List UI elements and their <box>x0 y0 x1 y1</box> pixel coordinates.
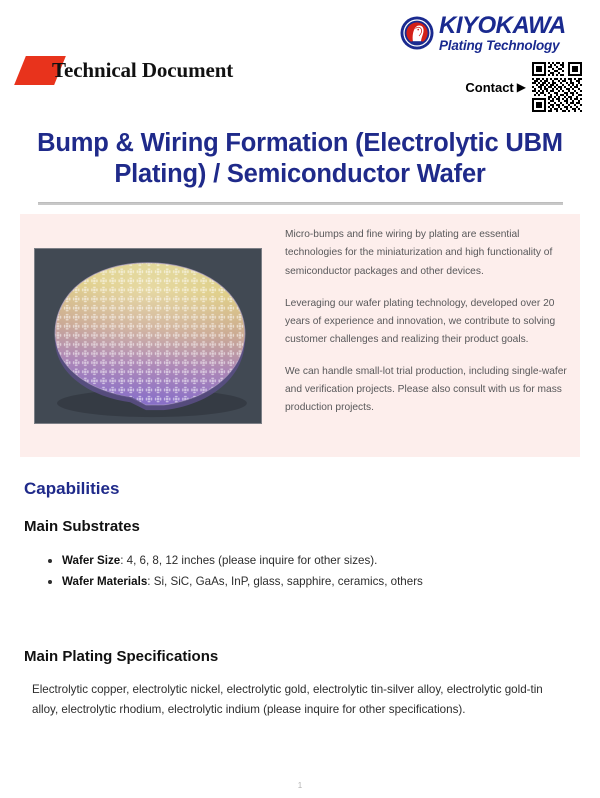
content-body: Capabilities Main Substrates Wafer Size:… <box>0 479 600 719</box>
page-title: Bump & Wiring Formation (Electrolytic UB… <box>24 128 576 190</box>
document-page: KIYOKAWA Plating Technology Technical Do… <box>0 0 600 798</box>
page-header: KIYOKAWA Plating Technology Technical Do… <box>0 0 600 120</box>
title-block: Bump & Wiring Formation (Electrolytic UB… <box>0 128 600 205</box>
list-item: Wafer Size: 4, 6, 8, 12 inches (please i… <box>48 551 576 571</box>
brand-text: KIYOKAWA Plating Technology <box>439 14 566 53</box>
contact-link[interactable]: Contact ▶ <box>465 62 582 112</box>
document-type-tag: Technical Document <box>20 56 233 85</box>
substrates-list: Wafer Size: 4, 6, 8, 12 inches (please i… <box>24 551 576 592</box>
contact-label: Contact <box>465 80 513 95</box>
intro-paragraph-2: Leveraging our wafer plating technology,… <box>285 295 568 349</box>
intro-text: Micro-bumps and fine wiring by plating a… <box>285 226 568 417</box>
bullet-label: Wafer Materials <box>62 575 147 588</box>
triangle-right-icon: ▶ <box>517 81 526 93</box>
company-logo: KIYOKAWA Plating Technology <box>400 14 566 53</box>
plating-specifications-body: Electrolytic copper, electrolytic nickel… <box>24 680 544 720</box>
brand-name: KIYOKAWA <box>439 14 566 38</box>
brand-tagline: Plating Technology <box>439 39 566 53</box>
plating-specifications-heading: Main Plating Specifications <box>24 648 576 665</box>
bullet-value: : Si, SiC, GaAs, InP, glass, sapphire, c… <box>147 575 423 588</box>
semiconductor-wafer-photo <box>34 248 262 424</box>
bullet-value: : 4, 6, 8, 12 inches (please inquire for… <box>120 554 377 567</box>
page-number: 1 <box>0 781 600 790</box>
intro-panel: Micro-bumps and fine wiring by plating a… <box>20 214 580 457</box>
intro-paragraph-1: Micro-bumps and fine wiring by plating a… <box>285 226 568 280</box>
company-seal-icon <box>400 16 434 50</box>
qr-code-icon[interactable] <box>532 62 582 112</box>
main-substrates-heading: Main Substrates <box>24 518 576 535</box>
list-item: Wafer Materials: Si, SiC, GaAs, InP, gla… <box>48 572 576 592</box>
title-divider <box>38 202 563 205</box>
document-type-label: Technical Document <box>52 58 233 83</box>
intro-paragraph-3: We can handle small-lot trial production… <box>285 363 568 417</box>
bullet-label: Wafer Size <box>62 554 120 567</box>
capabilities-heading: Capabilities <box>24 479 576 499</box>
